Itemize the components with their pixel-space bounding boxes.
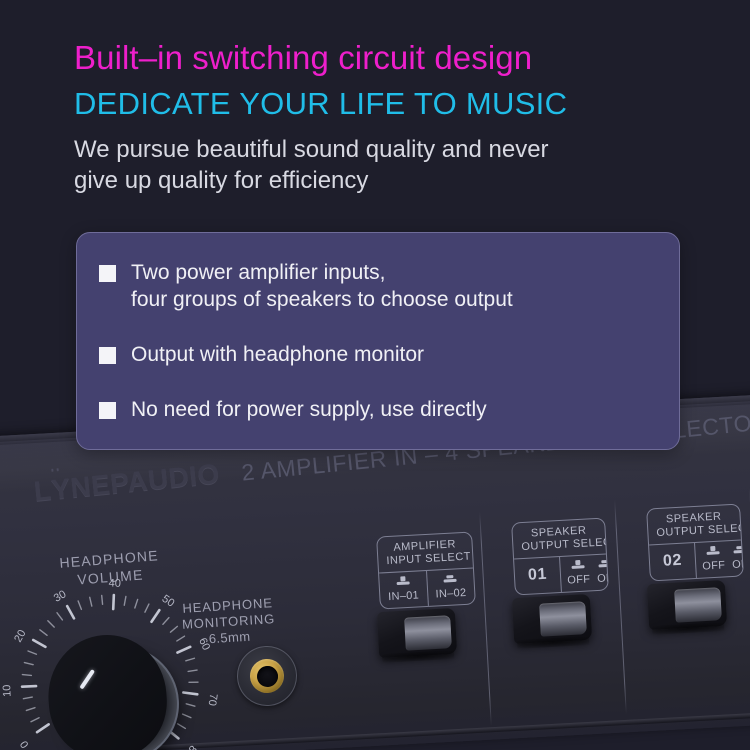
product-marketing-image: Built–in switching circuit design DEDICA…	[0, 0, 750, 750]
dial-tick-minor	[22, 674, 31, 676]
legend-cell-in-02: IN–02	[426, 568, 475, 606]
dial-tick-minor	[31, 718, 40, 722]
brand-logo-accent-letter: Y	[50, 472, 72, 505]
legend-cells: IN–01 IN–02	[379, 567, 475, 608]
legend-option-label: ON	[597, 572, 609, 585]
speaker-output-select-01-station: SPEAKER OUTPUT SELECT 01 OFF	[511, 518, 609, 596]
dial-tick-label: 40	[108, 577, 121, 590]
switch-up-icon	[395, 576, 411, 589]
dial-tick-minor	[188, 670, 197, 671]
legend-cells: 02 OFF	[649, 540, 743, 581]
dial-tick-minor	[23, 697, 32, 699]
body-copy-line-2: give up quality for efficiency	[74, 165, 714, 196]
body-copy: We pursue beautiful sound quality and ne…	[74, 134, 714, 196]
legend-title-line-2: OUTPUT SELECT	[521, 537, 598, 554]
dial-tick-label: 50	[160, 593, 177, 610]
feature-item: Output with headphone monitor	[99, 341, 679, 368]
rocker-face	[404, 615, 452, 650]
amplifier-input-select-legend: AMPLIFIER INPUT SELECT IN–01	[376, 531, 476, 609]
dial-tick-label: 80	[182, 743, 199, 750]
speaker-output-select-01-legend: SPEAKER OUTPUT SELECT 01 OFF	[511, 518, 609, 596]
body-copy-line-1: We pursue beautiful sound quality and ne…	[74, 134, 714, 165]
switch-up-icon	[705, 546, 721, 559]
dial-tick-minor	[40, 629, 47, 635]
feature-item: No need for power supply, use directly	[99, 396, 679, 423]
bullet-square-icon	[99, 402, 116, 419]
legend-cell-in-01: IN–01	[379, 571, 427, 608]
dial-tick-minor	[90, 597, 92, 606]
feature-item-line-1: No need for power supply, use directly	[131, 398, 487, 421]
dial-tick-minor	[183, 714, 191, 719]
dial-tick-minor	[102, 595, 103, 604]
headline-secondary: DEDICATE YOUR LIFE TO MUSIC	[74, 84, 714, 124]
speaker-channel-number: 02	[663, 552, 683, 571]
feature-item: Two power amplifier inputs, four groups …	[99, 259, 679, 313]
dial-tick-minor	[170, 626, 178, 632]
feature-item-line-1: Output with headphone monitor	[131, 343, 424, 366]
feature-item-text: No need for power supply, use directly	[131, 396, 487, 423]
legend-title-line-2: INPUT SELECT	[386, 551, 465, 568]
dial-tick-label: 70	[206, 693, 219, 707]
feature-item-text: Two power amplifier inputs, four groups …	[131, 259, 513, 313]
dial-tick-major	[33, 639, 45, 647]
legend-cell-index: 01	[514, 557, 561, 594]
switch-down-icon	[597, 558, 609, 571]
dial-tick-minor	[144, 604, 149, 612]
headphone-monitoring-label: HEADPHONE MONITORING 6.5mm	[181, 595, 277, 649]
dial-tick-major	[37, 724, 50, 732]
dial-tick-major	[67, 606, 74, 619]
feature-item-line-1: Two power amplifier inputs,	[131, 261, 385, 284]
legend-option-label: OFF	[567, 573, 591, 586]
bullet-square-icon	[99, 347, 116, 364]
legend-option-off: OFF	[701, 545, 725, 572]
dial-tick-minor	[24, 662, 33, 665]
dial-tick-minor	[162, 618, 169, 625]
legend-option: IN–02	[435, 573, 467, 601]
feature-item-text: Output with headphone monitor	[131, 341, 424, 368]
amplifier-selector-device: LYNEPAUDIO 2 AMPLIFIER IN – 4 SPEAKER OU…	[0, 438, 750, 750]
marketing-copy-block: Built–in switching circuit design DEDICA…	[74, 38, 714, 196]
legend-cells: 01 OFF	[514, 554, 608, 595]
legend-option-on: ON	[731, 544, 744, 571]
knob-pointer-indicator	[79, 669, 95, 689]
headline-primary: Built–in switching circuit design	[74, 38, 714, 78]
dial-tick-label: 30	[52, 588, 69, 604]
speaker-output-select-01-switch[interactable]	[512, 594, 592, 644]
legend-cell-off-on: OFF ON	[694, 540, 744, 578]
legend-title: SPEAKER OUTPUT SELECT	[512, 519, 606, 559]
jack-hole	[256, 665, 278, 687]
dial-tick-major	[183, 692, 197, 696]
legend-option-label: IN–01	[388, 589, 419, 603]
switch-up-icon	[570, 560, 586, 573]
legend-cell-off-on: OFF ON	[559, 554, 609, 592]
dial-tick-minor	[186, 658, 195, 661]
bullet-square-icon	[99, 265, 116, 282]
legend-title: SPEAKER OUTPUT SELECT	[647, 505, 741, 545]
legend-cell-index: 02	[649, 543, 696, 580]
amplifier-input-select-station: AMPLIFIER INPUT SELECT IN–01	[376, 531, 476, 609]
speaker-output-select-02-station: SPEAKER OUTPUT SELECT 02 OFF	[646, 504, 744, 582]
dial-tick-minor	[57, 612, 62, 620]
dial-tick-minor	[28, 650, 36, 654]
dial-tick-minor	[186, 703, 195, 707]
speaker-output-select-02-switch[interactable]	[647, 580, 727, 630]
dial-tick-minor	[78, 601, 81, 610]
legend-option-on: ON	[596, 558, 609, 585]
dial-tick-minor	[178, 723, 186, 729]
legend-option-label: OFF	[702, 559, 726, 572]
legend-title: AMPLIFIER INPUT SELECT	[377, 533, 473, 573]
dial-tick-major	[112, 595, 115, 609]
jack-gold-ring	[249, 658, 285, 694]
legend-option: IN–01	[387, 575, 419, 603]
rocker-face	[539, 601, 587, 636]
feature-item-line-2: four groups of speakers to choose output	[131, 286, 513, 313]
feature-list-panel: Two power amplifier inputs, four groups …	[76, 232, 680, 450]
legend-option-off: OFF	[566, 559, 590, 586]
dial-tick-minor	[189, 682, 198, 683]
dial-tick-label: 0	[18, 738, 31, 750]
dial-tick-minor	[134, 599, 138, 608]
dial-tick-minor	[26, 708, 35, 711]
legend-option-label: IN–02	[435, 587, 466, 601]
rocker-face	[674, 587, 722, 622]
switch-down-icon	[442, 573, 458, 586]
dial-tick-minor	[48, 620, 54, 627]
legend-title-line-2: OUTPUT SELECT	[656, 523, 733, 540]
dial-tick-major	[151, 610, 160, 622]
dial-tick-label: 20	[12, 628, 28, 645]
speaker-channel-number: 01	[528, 566, 548, 585]
dial-tick-major	[22, 686, 36, 687]
amplifier-input-select-switch[interactable]	[377, 608, 457, 658]
legend-option-label: ON	[732, 558, 744, 571]
speaker-output-select-02-legend: SPEAKER OUTPUT SELECT 02 OFF	[646, 504, 744, 582]
dial-tick-label: 10	[1, 684, 13, 697]
switch-down-icon	[732, 544, 744, 557]
dial-tick-minor	[124, 596, 127, 605]
